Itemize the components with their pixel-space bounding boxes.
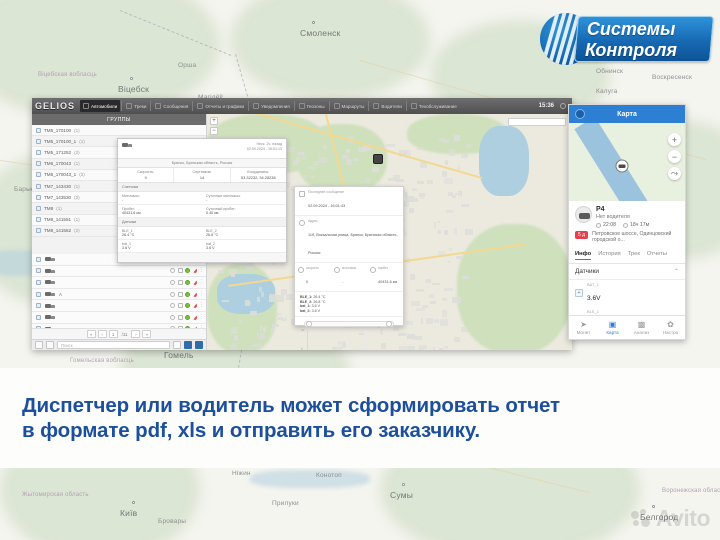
map-block bbox=[239, 319, 242, 324]
map-block bbox=[420, 195, 424, 199]
toolbar-автомобили[interactable]: Автомобили bbox=[80, 100, 120, 112]
map-block bbox=[275, 313, 282, 315]
sensor-value: 3.6 V bbox=[312, 304, 320, 308]
map-block bbox=[432, 283, 439, 286]
target-icon[interactable] bbox=[170, 315, 175, 320]
map-zoom-controls[interactable]: + − bbox=[210, 117, 218, 135]
detail-sensors: BLE_1: 26.4 °CBLE_2: 26.8 °Cbat_1: 3.6 V… bbox=[295, 292, 403, 317]
map-block bbox=[446, 210, 453, 213]
info-icon[interactable] bbox=[178, 292, 183, 297]
groups-header: ГРУППЫ bbox=[32, 114, 206, 125]
map-block bbox=[257, 297, 259, 301]
map-block bbox=[462, 276, 469, 279]
vehicle-row[interactable]: ⋮ bbox=[32, 312, 206, 324]
chevron-up-icon[interactable]: ⌃ bbox=[674, 268, 679, 275]
toolbar-label: Техобслуживание bbox=[419, 104, 457, 109]
popup-counters-title: Счетчики bbox=[118, 183, 286, 192]
map-block bbox=[222, 300, 229, 302]
gelios-brand: GELIOS bbox=[35, 101, 75, 111]
map-city-label: Сумы bbox=[390, 490, 413, 500]
group-name: TM5_170100_1 bbox=[44, 139, 76, 144]
map-block bbox=[410, 274, 414, 280]
wrench-icon bbox=[411, 103, 417, 109]
map-block bbox=[426, 279, 431, 283]
slider-knob-left[interactable] bbox=[306, 321, 312, 327]
battery-icon[interactable] bbox=[193, 303, 197, 308]
vehicle-detail-popup[interactable]: Последнее сообщение 02.09.2024 - 16:01:4… bbox=[294, 186, 404, 326]
карта-icon: ▣ bbox=[598, 320, 627, 329]
map-block bbox=[282, 318, 287, 321]
map-block bbox=[449, 248, 453, 250]
настро-icon: ✿ bbox=[656, 320, 685, 329]
path-icon bbox=[334, 103, 340, 109]
target-icon[interactable] bbox=[170, 303, 175, 308]
map-city-label: Прилуки bbox=[272, 500, 299, 507]
map-park bbox=[457, 224, 572, 350]
vehicle-row[interactable]: ⋮ bbox=[32, 266, 206, 278]
map-block bbox=[444, 178, 453, 184]
clock-icon bbox=[596, 223, 601, 228]
mobile-vehicle-card: Р4 Нет водителя 22:08 18ч 17м 5 д Петров… bbox=[569, 201, 685, 247]
toolbar-separator bbox=[406, 101, 407, 111]
menu-icon[interactable]: ⋮ bbox=[199, 292, 202, 297]
map-block bbox=[287, 182, 290, 188]
page-next-button[interactable]: › bbox=[131, 330, 140, 338]
toolbar-уведомления[interactable]: Уведомления bbox=[250, 100, 293, 112]
bottom-tab-монит[interactable]: ➤Монит bbox=[569, 320, 598, 335]
logo-plate: Системы Контроля bbox=[574, 16, 714, 62]
avito-watermark: Avito bbox=[631, 505, 710, 532]
map-city-dot bbox=[402, 483, 405, 486]
toolbar-техобслуживание[interactable]: Техобслуживание bbox=[408, 100, 460, 112]
vehicle-row[interactable]: ⋮ bbox=[32, 300, 206, 312]
map-block bbox=[461, 154, 467, 158]
truck-icon bbox=[122, 142, 132, 148]
map-block bbox=[263, 327, 266, 332]
map-block bbox=[272, 324, 280, 328]
map-block bbox=[422, 305, 428, 309]
page-number-input[interactable]: 1 bbox=[109, 330, 118, 338]
tab-история[interactable]: История bbox=[598, 251, 620, 260]
map-block bbox=[342, 155, 349, 158]
bottom-tab-настро[interactable]: ✿Настро bbox=[656, 320, 685, 335]
map-block bbox=[416, 289, 424, 292]
group-icon bbox=[36, 228, 41, 233]
map-block bbox=[388, 178, 396, 181]
bottom-tab-label: Настро bbox=[656, 330, 685, 335]
bottom-tab-label: Монит bbox=[569, 330, 598, 335]
truck-icon bbox=[45, 268, 55, 274]
map-block bbox=[434, 222, 436, 227]
map-city-label: Бровары bbox=[158, 518, 186, 525]
last-message-value: 02.09.2024 - 16:01:43 bbox=[308, 204, 345, 208]
page-prev-button[interactable]: ‹ bbox=[98, 330, 107, 338]
map-block bbox=[354, 158, 359, 161]
info-icon[interactable] bbox=[178, 303, 183, 308]
map-city-label: Ніжин bbox=[232, 470, 251, 477]
toolbar-label: Уведомления bbox=[261, 104, 290, 109]
battery-icon[interactable] bbox=[193, 268, 197, 273]
vehicle-rows[interactable]: ⋮⋮⋮А⋮⋮⋮⋮А⋮ bbox=[32, 254, 206, 328]
map-block bbox=[458, 191, 462, 195]
sensor-label: bat_2: bbox=[300, 309, 312, 313]
map-block bbox=[308, 167, 315, 169]
group-row[interactable]: TM5_170100(1) bbox=[32, 125, 206, 136]
map-block bbox=[245, 300, 250, 306]
chart-ytick: 10 bbox=[301, 328, 304, 332]
row-checkbox[interactable] bbox=[36, 268, 41, 273]
popup-address: Брянск, Брянская область, Россия bbox=[118, 159, 286, 168]
target-icon[interactable] bbox=[170, 292, 175, 297]
row-action-icons[interactable]: ⋮ bbox=[170, 315, 202, 320]
truck-icon bbox=[45, 303, 55, 309]
toolbar-label: Автомобили bbox=[91, 104, 117, 109]
zoom-in-button[interactable]: + bbox=[210, 117, 218, 125]
signal-icon[interactable] bbox=[185, 315, 190, 320]
group-name: TM7_143430 bbox=[44, 184, 71, 189]
sensor-line: bat_2: 3.6 V bbox=[300, 309, 398, 314]
map-block bbox=[465, 229, 473, 235]
map-block bbox=[418, 348, 424, 350]
group-count: (2) bbox=[74, 228, 80, 233]
metric-value: 40431.6 км bbox=[378, 280, 397, 284]
car-marker-icon bbox=[615, 159, 631, 173]
menu-icon[interactable]: ⋮ bbox=[199, 315, 202, 320]
map-block bbox=[257, 333, 265, 339]
map-block bbox=[386, 144, 395, 147]
toolbar-separator bbox=[150, 101, 151, 111]
info-cell: bat_23.6 V bbox=[202, 240, 286, 252]
menu-icon[interactable]: ⋮ bbox=[199, 268, 202, 273]
group-count: (1) bbox=[74, 217, 80, 222]
map-block bbox=[406, 321, 413, 324]
detail-metrics: скорость0моточасы-пробег40431.6 км bbox=[295, 263, 403, 292]
banner-line-1: Диспетчер или водитель может сформироват… bbox=[22, 393, 560, 418]
vehicle-row[interactable]: А⋮ bbox=[32, 289, 206, 301]
battery-icon[interactable] bbox=[193, 292, 197, 297]
zoom-out-button[interactable]: − bbox=[668, 150, 681, 163]
map-block bbox=[346, 149, 350, 153]
vehicle-stats: 22:08 18ч 17м bbox=[596, 222, 679, 228]
call-icon[interactable] bbox=[184, 341, 192, 349]
map-block bbox=[366, 178, 370, 183]
signal-icon[interactable] bbox=[185, 280, 190, 285]
metric-label: скорость bbox=[306, 266, 319, 270]
tab-отчеты[interactable]: Отчеты bbox=[647, 251, 667, 260]
bottom-tab-label: Карта bbox=[598, 330, 627, 335]
bottom-tab-карта[interactable]: ▣Карта bbox=[598, 320, 627, 335]
монит-icon: ➤ bbox=[569, 320, 598, 329]
info-icon[interactable] bbox=[178, 315, 183, 320]
map-city-label: Жытомирская область bbox=[22, 492, 89, 498]
signal-icon[interactable] bbox=[185, 268, 190, 273]
map-block bbox=[444, 288, 453, 292]
toolbar-label: Маршруты bbox=[342, 104, 365, 109]
mobile-tabs[interactable]: ИнфоИсторияТрекОтчеты bbox=[569, 247, 685, 264]
search-icon[interactable] bbox=[173, 341, 181, 349]
map-block bbox=[455, 193, 458, 195]
row-checkbox[interactable] bbox=[36, 315, 41, 320]
truck-icon bbox=[45, 256, 55, 262]
marketing-banner: Диспетчер или водитель может сформироват… bbox=[0, 368, 720, 468]
truck-icon bbox=[45, 291, 55, 297]
info-icon[interactable] bbox=[178, 268, 183, 273]
stat-time: 22:08 bbox=[596, 222, 616, 228]
gelios-desktop-screenshot: GELIOS АвтомобилиТрекиСообщенияОтчеты и … bbox=[32, 98, 572, 350]
map-block bbox=[429, 294, 435, 299]
map-block bbox=[313, 161, 319, 166]
map-block bbox=[433, 347, 436, 350]
info-cell: bat_13.6 V bbox=[118, 240, 202, 252]
info-value: - bbox=[206, 198, 282, 202]
map-block bbox=[430, 301, 436, 304]
map-block bbox=[444, 346, 449, 349]
map-block bbox=[454, 228, 458, 235]
clock-label: 15:36 bbox=[539, 103, 554, 109]
menu-icon[interactable]: ⋮ bbox=[199, 303, 202, 308]
filter-icon[interactable] bbox=[35, 341, 43, 349]
info-row: Пробег:40431.6 кмСуточный пробег:0.40 км bbox=[118, 205, 286, 218]
map-block bbox=[442, 310, 446, 316]
metric-label: пробег bbox=[378, 266, 397, 270]
sensor-value: 3.6 V bbox=[312, 309, 320, 313]
toolbar-label: Геозоны bbox=[307, 104, 325, 109]
info-value: 26.4 °C bbox=[122, 233, 198, 237]
stat-value: 53.32232, 34.28236 bbox=[231, 175, 286, 180]
map-city-label: Орша bbox=[178, 62, 196, 69]
info-icon[interactable] bbox=[178, 280, 183, 285]
map-city-dot bbox=[130, 77, 133, 80]
map-block bbox=[411, 301, 420, 306]
group-icon bbox=[36, 206, 41, 211]
group-name: TM8_141552 bbox=[44, 228, 71, 233]
map-block bbox=[461, 327, 468, 332]
metric-cell: моточасы- bbox=[331, 263, 367, 291]
map-block bbox=[442, 171, 447, 177]
signal-icon[interactable] bbox=[185, 292, 190, 297]
group-name: TM6_170043_1 bbox=[44, 172, 76, 177]
info-row: BLE_126.4 °CBLE_226.8 °C bbox=[118, 227, 286, 240]
map-city-label: Воскресенск bbox=[652, 74, 692, 81]
timestamp-value: 02.09.2024 - 16:01:13 bbox=[247, 147, 282, 152]
toolbar-маршруты[interactable]: Маршруты bbox=[331, 100, 368, 112]
bottom-tab-анализ[interactable]: ▩Анализ bbox=[627, 320, 656, 335]
toolbar-items: АвтомобилиТрекиСообщенияОтчеты и графики… bbox=[80, 100, 460, 112]
map-city-label: Калуга bbox=[596, 88, 618, 95]
map-city-label: Гомель bbox=[164, 350, 194, 360]
map-block bbox=[440, 319, 448, 326]
menu-icon[interactable]: ⋮ bbox=[199, 280, 202, 285]
driver-icon bbox=[373, 103, 379, 109]
avatar[interactable] bbox=[575, 109, 585, 119]
map-block bbox=[231, 331, 236, 334]
map-block bbox=[439, 348, 443, 350]
stat-cell: Спутников:14 bbox=[174, 168, 230, 182]
map-city-label: Смоленск bbox=[300, 28, 340, 38]
vehicle-row[interactable]: ⋮ bbox=[32, 277, 206, 289]
geofence-icon bbox=[299, 103, 305, 109]
target-icon[interactable] bbox=[170, 280, 175, 285]
vehicle-map-marker[interactable] bbox=[615, 159, 631, 173]
truck-icon bbox=[45, 279, 55, 285]
map-block bbox=[301, 154, 305, 160]
toolbar-label: Сообщения bbox=[163, 104, 188, 109]
group-icon[interactable] bbox=[46, 341, 54, 349]
chart-range-slider[interactable] bbox=[304, 321, 394, 327]
panel-bottom-bar: Поиск bbox=[32, 339, 206, 350]
mobile-map-controls[interactable]: + − ⤳ bbox=[668, 133, 681, 180]
vehicle-address: Петровское шоссе, Одинцовский городской … bbox=[592, 231, 679, 244]
search-input[interactable]: Поиск bbox=[57, 341, 170, 349]
toolbar-label: Водители bbox=[381, 104, 401, 109]
group-name: TM5_171252 bbox=[44, 150, 71, 155]
map-water bbox=[479, 126, 529, 196]
map-block bbox=[442, 298, 447, 302]
sensors-section-header[interactable]: Датчики ⌃ bbox=[569, 264, 685, 280]
map-block bbox=[438, 221, 441, 223]
map-block bbox=[230, 343, 237, 349]
avito-logo-icon bbox=[631, 509, 653, 529]
sensors-title: Датчики bbox=[575, 268, 599, 275]
message-icon bbox=[155, 103, 161, 109]
map-block bbox=[407, 346, 415, 350]
bottom-tab-label: Анализ bbox=[627, 330, 656, 335]
battery-icon: + bbox=[575, 289, 583, 297]
toolbar-right: 15:36 bbox=[539, 100, 572, 112]
zoom-out-button[interactable]: − bbox=[210, 127, 218, 135]
mobile-map[interactable]: + − ⤳ bbox=[569, 123, 685, 201]
row-action-icons[interactable]: ⋮ bbox=[170, 303, 202, 308]
address-label: Адрес bbox=[308, 219, 399, 223]
row-action-icons[interactable]: ⋮ bbox=[170, 292, 202, 297]
group-name: TM5_170100 bbox=[44, 128, 71, 133]
battery-icon[interactable] bbox=[193, 280, 197, 285]
battery-icon[interactable] bbox=[193, 315, 197, 320]
map-block bbox=[404, 232, 406, 236]
page-first-button[interactable]: « bbox=[87, 330, 96, 338]
sms-icon[interactable] bbox=[195, 341, 203, 349]
map-block bbox=[287, 147, 295, 152]
popup-stats: Скорость:0Спутников:14Координаты:53.3223… bbox=[118, 168, 286, 183]
group-icon bbox=[36, 195, 41, 200]
banner-line-2: в формате pdf, xls и отправить его заказ… bbox=[22, 418, 560, 443]
pagination[interactable]: « ‹ 1 /11 › » bbox=[32, 328, 206, 339]
tab-трек[interactable]: Трек bbox=[628, 251, 640, 260]
map-block bbox=[246, 263, 255, 269]
signal-icon[interactable] bbox=[185, 303, 190, 308]
zoom-in-button[interactable]: + bbox=[668, 133, 681, 146]
info-cell: Моточасы:- bbox=[118, 192, 202, 204]
metric-label: моточасы bbox=[342, 266, 356, 270]
map-block bbox=[444, 230, 447, 235]
row-action-icons[interactable]: ⋮ bbox=[170, 280, 202, 285]
map-block bbox=[229, 269, 237, 274]
vehicle-address-row: 5 д Петровское шоссе, Одинцовский городс… bbox=[575, 231, 679, 244]
map-search-chip[interactable] bbox=[508, 118, 566, 126]
group-icon bbox=[36, 161, 41, 166]
group-name: TM6_170043 bbox=[44, 161, 71, 166]
map-water bbox=[250, 470, 370, 488]
address-row: Адрес 11б, Вокзальная улица, Брянск, Бря… bbox=[295, 216, 403, 263]
map-block bbox=[461, 204, 469, 207]
toolbar-separator bbox=[368, 101, 369, 111]
map-block bbox=[293, 160, 298, 165]
map-block bbox=[261, 292, 265, 297]
map-block bbox=[426, 318, 433, 324]
toolbar-separator bbox=[329, 101, 330, 111]
metric-icon bbox=[370, 267, 376, 273]
user-icon bbox=[560, 103, 566, 109]
route-icon bbox=[126, 103, 132, 109]
map-block bbox=[281, 289, 287, 295]
group-name: TM8_141551 bbox=[44, 217, 71, 222]
page-total-label: /11 bbox=[120, 330, 130, 338]
sensor-value: 3.6V bbox=[587, 295, 601, 302]
info-cell: Пробег:40431.6 км bbox=[118, 205, 202, 217]
tab-инфо[interactable]: Инфо bbox=[575, 251, 591, 260]
map-block bbox=[454, 337, 460, 341]
map-block bbox=[298, 152, 304, 154]
row-checkbox[interactable] bbox=[36, 257, 41, 262]
map-city-label: Конотоп bbox=[316, 472, 342, 479]
truck-marker-icon bbox=[373, 154, 383, 164]
map-city-label: Віцебск bbox=[118, 84, 149, 94]
vehicle-info-popup[interactable]: Неск. 2ч. назад 02.09.2024 - 16:01:13 Бр… bbox=[117, 138, 287, 263]
vehicle-map-marker[interactable] bbox=[373, 154, 385, 166]
group-name: TM7_143530 bbox=[44, 195, 71, 200]
map-block bbox=[234, 335, 238, 341]
map-block bbox=[449, 149, 455, 155]
group-count: (2) bbox=[74, 150, 80, 155]
logo-line-1: Системы bbox=[578, 17, 712, 40]
toolbar-отчеты-и-графики[interactable]: Отчеты и графики bbox=[194, 100, 247, 112]
truck-icon bbox=[45, 314, 55, 320]
map-block bbox=[311, 176, 314, 178]
group-icon bbox=[36, 217, 41, 222]
mobile-bottom-nav[interactable]: ➤Монит▣Карта▩Анализ✿Настро bbox=[569, 315, 685, 339]
map-city-label: Обнинск bbox=[596, 68, 623, 75]
target-icon[interactable] bbox=[170, 268, 175, 273]
vehicle-name: А bbox=[59, 292, 166, 297]
share-icon[interactable]: ⤳ bbox=[668, 167, 681, 180]
info-value: 3.6 V bbox=[122, 246, 198, 250]
speed-chart[interactable]: 10 5 0 16:00 16:01 Скорость bbox=[295, 317, 403, 350]
toolbar-водители[interactable]: Водители bbox=[370, 100, 404, 112]
toolbar-геозоны[interactable]: Геозоны bbox=[296, 100, 328, 112]
map-block bbox=[448, 261, 450, 264]
map-block bbox=[452, 297, 461, 302]
row-checkbox[interactable] bbox=[36, 280, 41, 285]
map-block bbox=[416, 308, 424, 311]
page-last-button[interactable]: » bbox=[142, 330, 151, 338]
stat-cell: Координаты:53.32232, 34.28236 bbox=[231, 168, 286, 182]
slider-knob-right[interactable] bbox=[386, 321, 392, 327]
toolbar-сообщения[interactable]: Сообщения bbox=[152, 100, 191, 112]
sensor-label: bat_1: bbox=[300, 304, 312, 308]
toolbar-separator bbox=[294, 101, 295, 111]
group-count: (1) bbox=[74, 184, 80, 189]
map-block bbox=[231, 274, 235, 277]
info-value: 3.6 V bbox=[206, 246, 282, 250]
map-block bbox=[411, 198, 418, 202]
row-checkbox[interactable] bbox=[36, 303, 41, 308]
hourglass-icon bbox=[623, 223, 628, 228]
toolbar-треки[interactable]: Треки bbox=[123, 100, 149, 112]
bell-icon bbox=[253, 103, 259, 109]
row-checkbox[interactable] bbox=[36, 292, 41, 297]
row-action-icons[interactable]: ⋮ bbox=[170, 268, 202, 273]
info-value: 26.8 °C bbox=[206, 233, 282, 237]
